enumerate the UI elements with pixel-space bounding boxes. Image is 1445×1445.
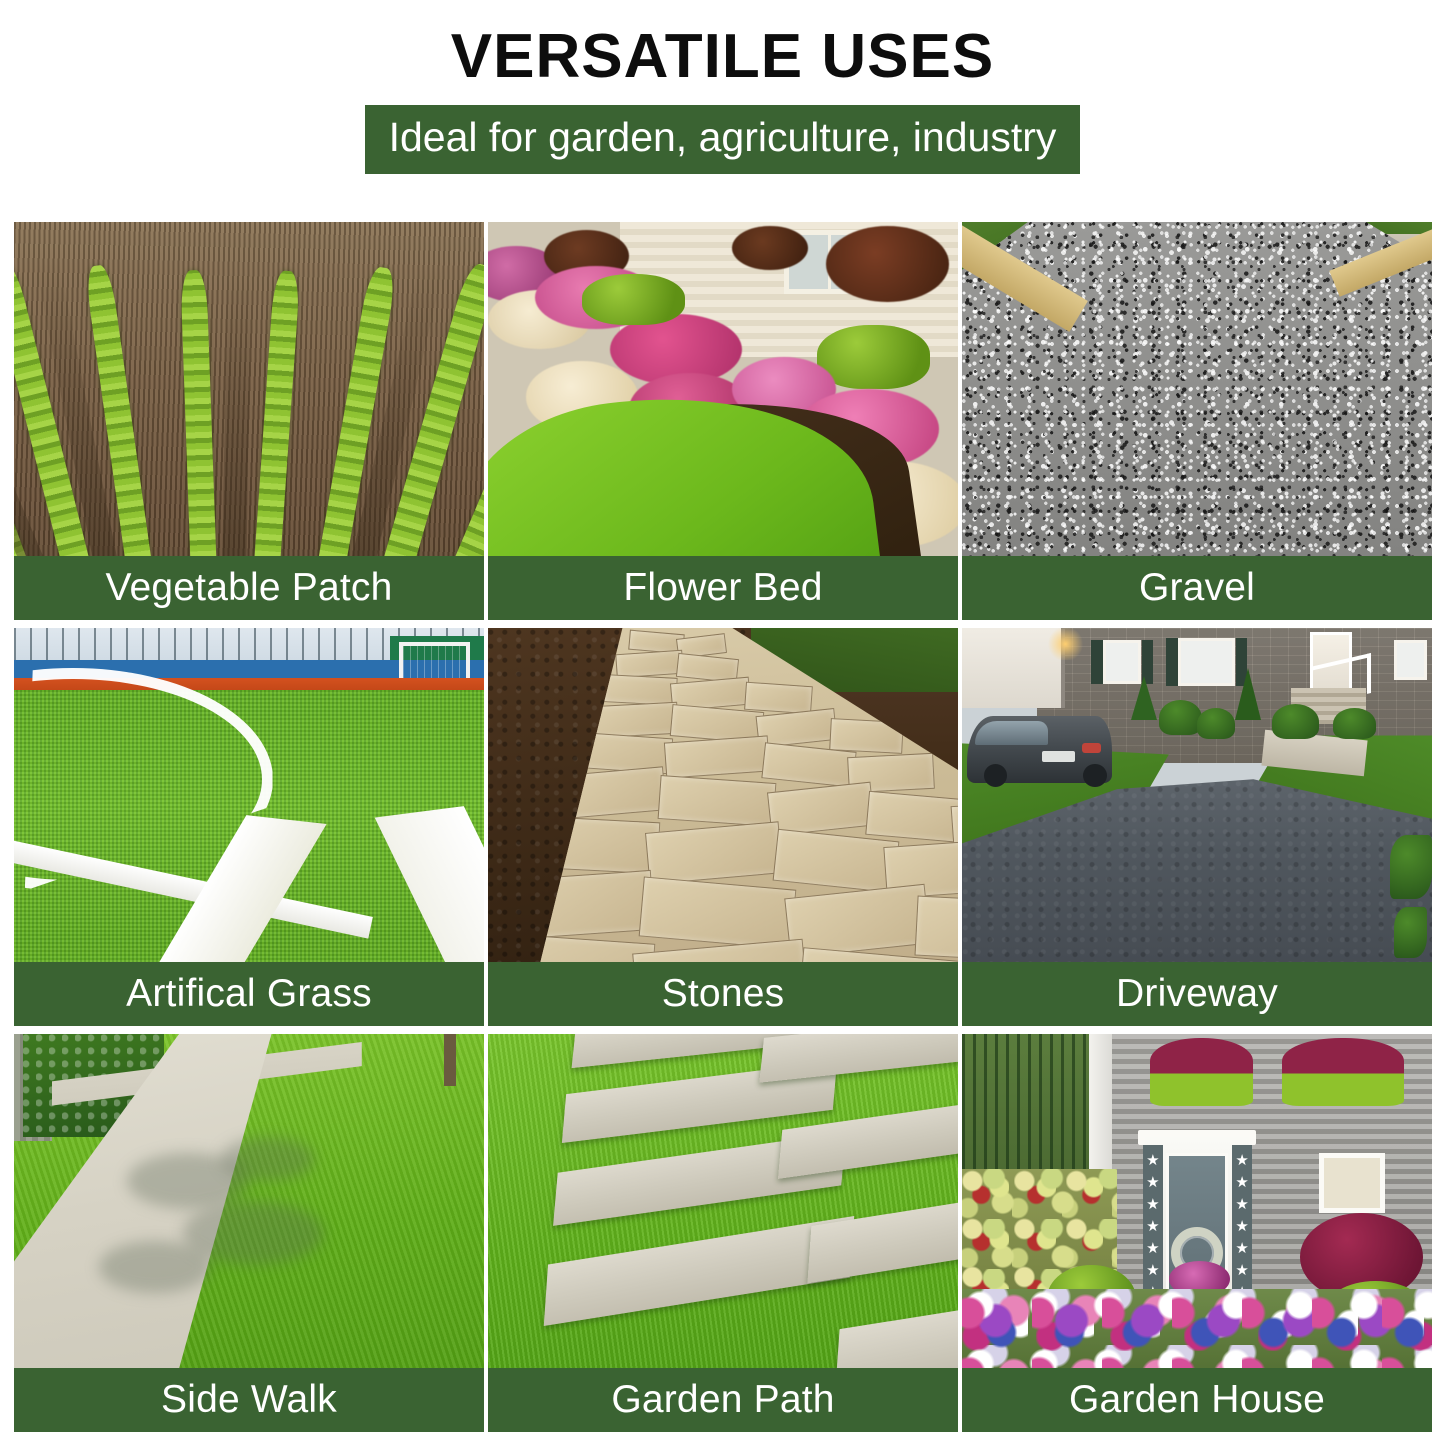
use-case-grid: Vegetable Patch — [14, 222, 1431, 1432]
caption-artifical-grass: Artifical Grass — [14, 962, 484, 1026]
caption-side-walk: Side Walk — [14, 1368, 484, 1432]
grid-cell-driveway[interactable]: Driveway — [962, 628, 1432, 1026]
side-window — [1319, 1153, 1385, 1213]
window-box-right — [1282, 1038, 1404, 1106]
soccer-goal — [399, 642, 470, 678]
parked-car — [967, 716, 1113, 784]
tree-trunk — [444, 1034, 456, 1086]
caption-garden-house: Garden House — [962, 1368, 1432, 1432]
grid-cell-side-walk[interactable]: Side Walk — [14, 1034, 484, 1432]
caption-garden-path: Garden Path — [488, 1368, 958, 1432]
caption-gravel: Gravel — [962, 556, 1432, 620]
page-title: VERSATILE USES — [0, 24, 1445, 89]
window-box-left — [1150, 1038, 1253, 1106]
grid-cell-garden-house[interactable]: ★ ★ ★ ★ ★ ★ ★ ★ ★ ★ ★ ★ ★ ★ ★ ★ — [962, 1034, 1432, 1432]
porch-light-glow — [1047, 628, 1085, 660]
caption-flower-bed: Flower Bed — [488, 556, 958, 620]
caption-stones: Stones — [488, 962, 958, 1026]
grid-cell-flower-bed[interactable]: Flower Bed — [488, 222, 958, 620]
grid-cell-artifical-grass[interactable]: Artifical Grass — [14, 628, 484, 1026]
caption-driveway: Driveway — [962, 962, 1432, 1026]
header: VERSATILE USES Ideal for garden, agricul… — [0, 0, 1445, 174]
grid-cell-gravel[interactable]: Gravel — [962, 222, 1432, 620]
subtitle-wrapper: Ideal for garden, agriculture, industry — [0, 105, 1445, 174]
grid-cell-garden-path[interactable]: Garden Path — [488, 1034, 958, 1432]
subtitle-banner: Ideal for garden, agriculture, industry — [365, 105, 1081, 174]
grid-cell-vegetable-patch[interactable]: Vegetable Patch — [14, 222, 484, 620]
caption-vegetable-patch: Vegetable Patch — [14, 556, 484, 620]
grid-cell-stones[interactable]: Stones — [488, 628, 958, 1026]
